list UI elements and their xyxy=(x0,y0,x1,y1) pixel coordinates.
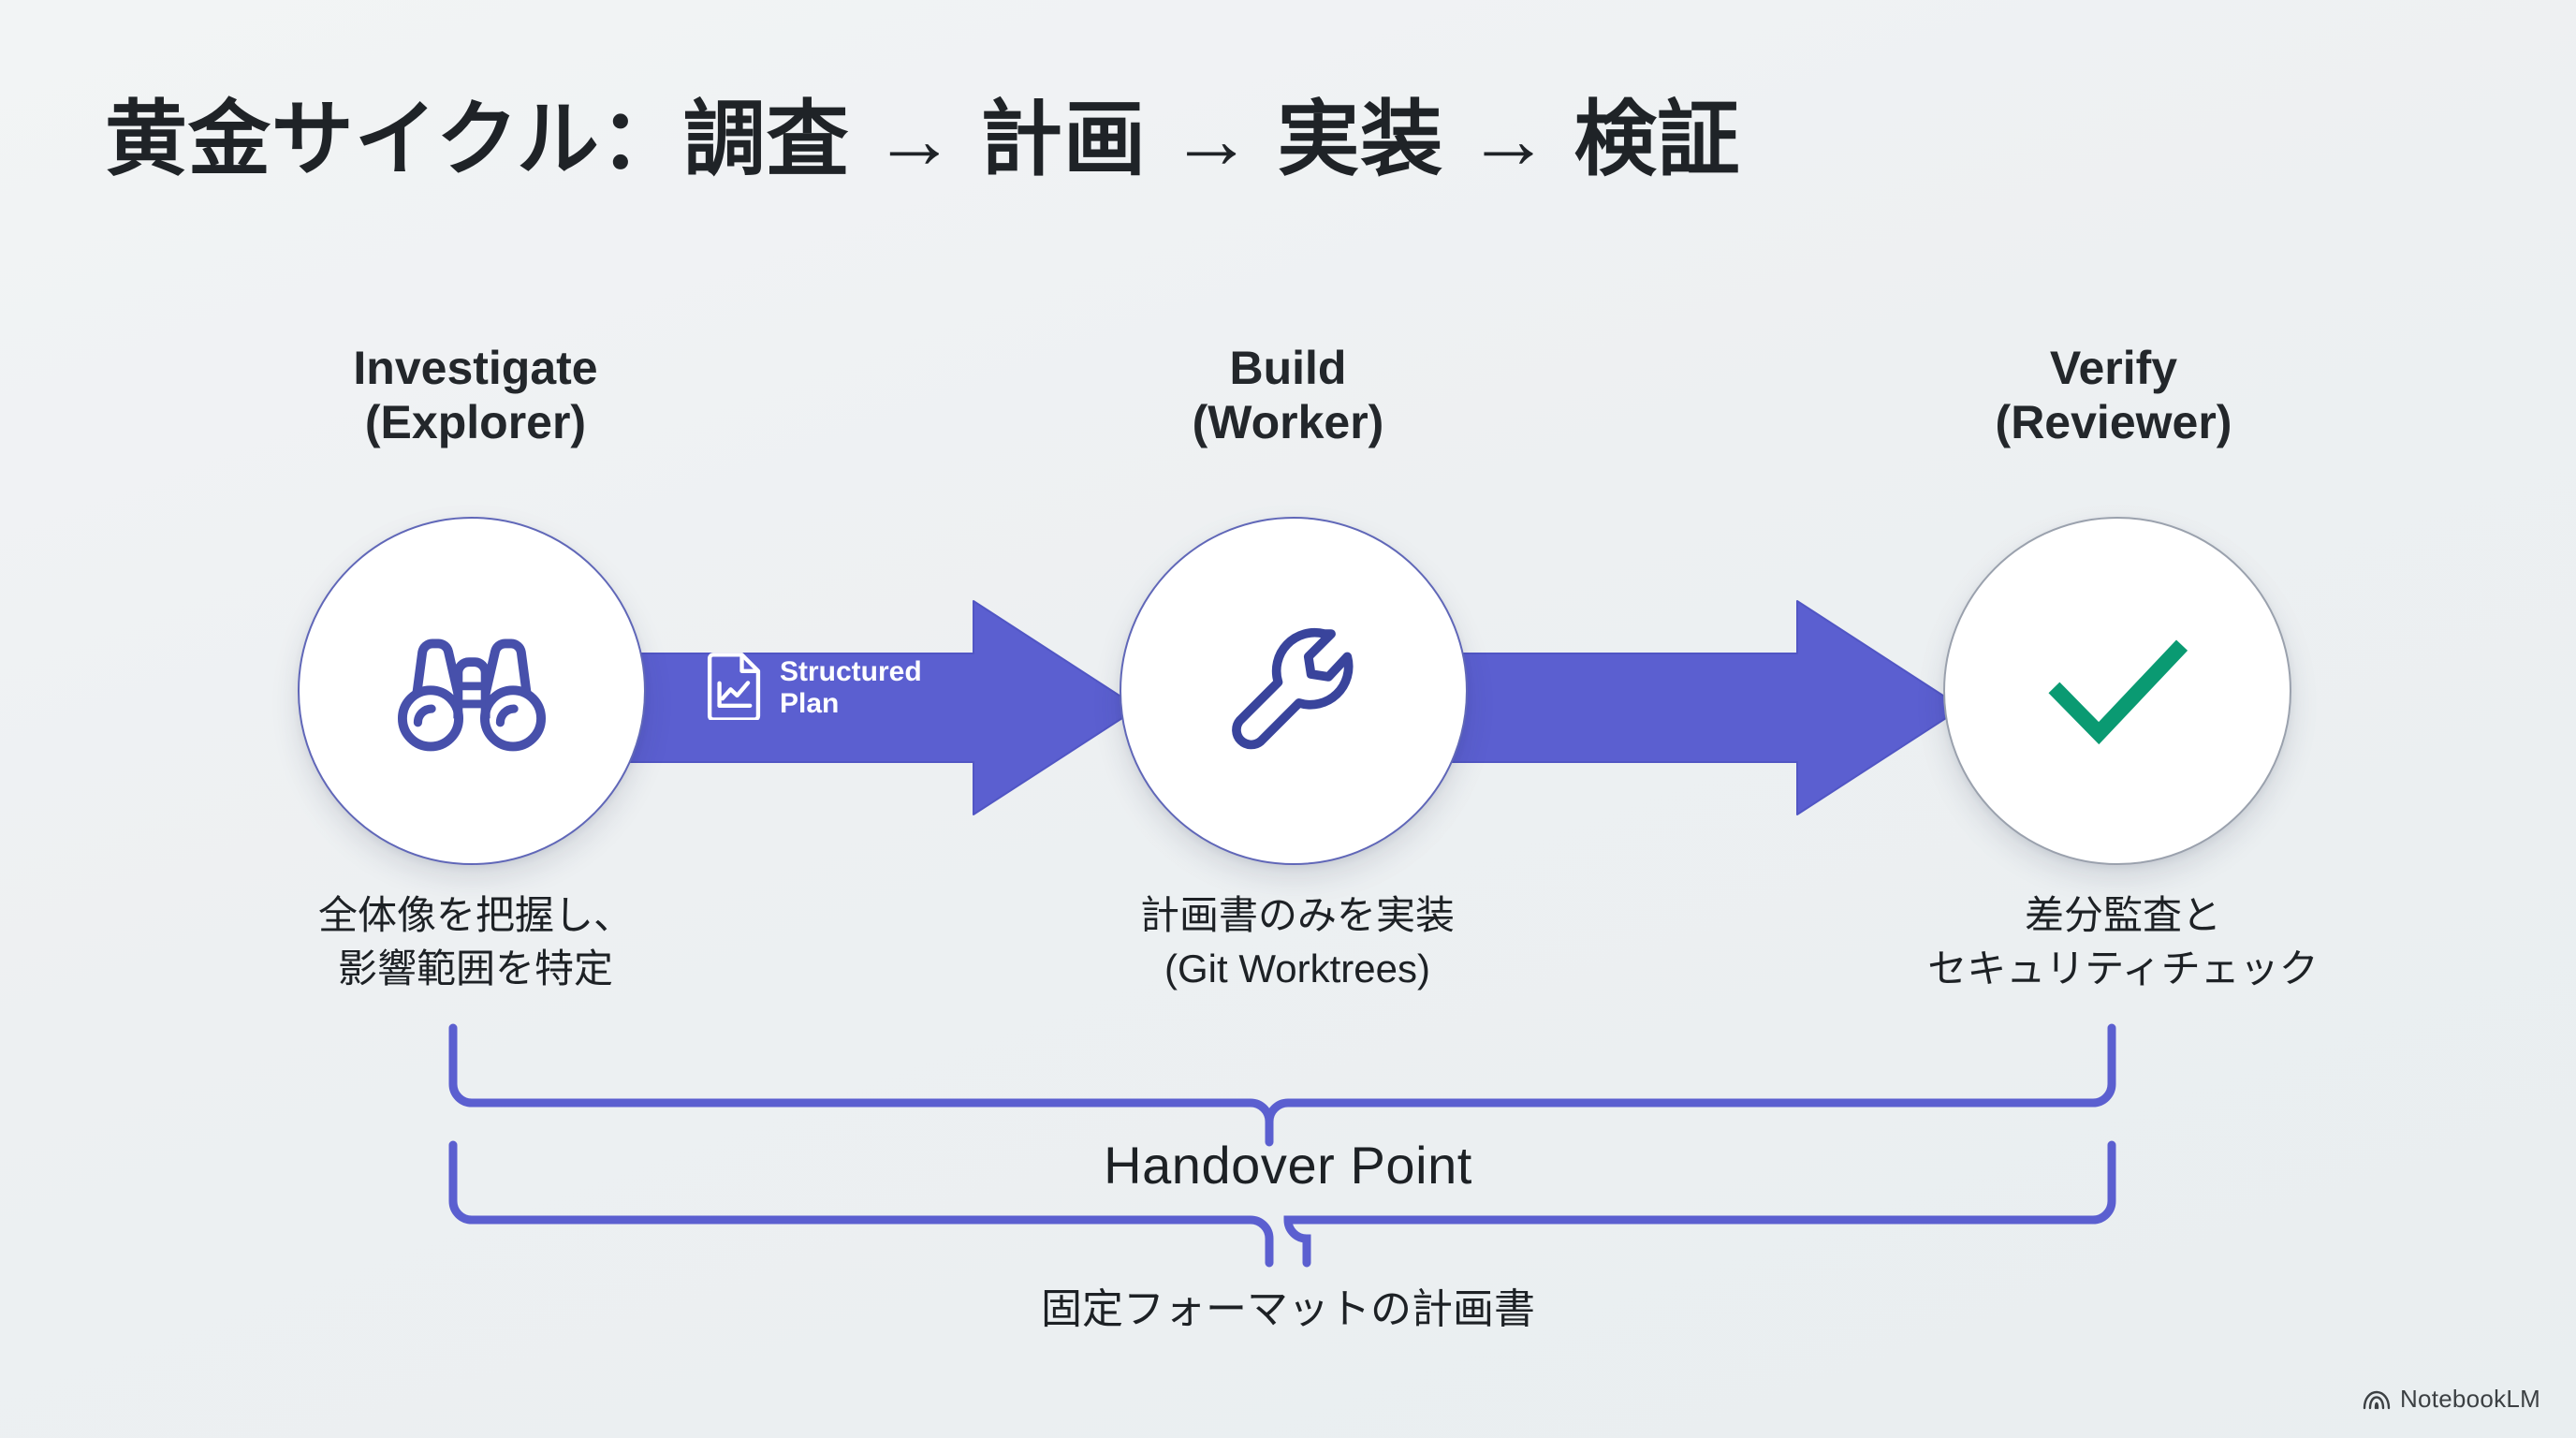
notebooklm-arc-icon xyxy=(2363,1388,2391,1411)
stage-heading: Build (Worker) xyxy=(1045,341,1531,449)
wrench-icon xyxy=(1213,610,1374,771)
stage-caption-investigate: 全体像を把握し、 影響範囲を特定 xyxy=(176,889,775,995)
arrow-build-to-verify xyxy=(1442,595,1966,820)
document-chart-icon xyxy=(707,651,765,725)
slide-canvas: 黄金サイクル：調査 → 計画 → 実装 → 検証 Structured Plan… xyxy=(0,0,2576,1438)
handover-bottom-note: 固定フォーマットの計画書 xyxy=(820,1275,1756,1335)
stage-investigate: Investigate (Explorer) xyxy=(232,341,719,449)
stage-caption-verify: 差分監査と セキュリティチェック xyxy=(1823,889,2422,995)
check-icon xyxy=(2028,602,2206,780)
stage-icon-circle-build xyxy=(1120,517,1468,865)
stage-heading: Verify (Reviewer) xyxy=(1870,341,2357,449)
binoculars-icon xyxy=(389,609,554,773)
brand-name: NotebookLM xyxy=(2400,1385,2540,1414)
arrow-label-structured-plan: Structured Plan xyxy=(707,651,922,725)
stage-icon-circle-investigate xyxy=(298,517,646,865)
handover-brace-bottom xyxy=(440,1137,2125,1269)
stage-caption-build: 計画書のみを実装 (Git Worktrees) xyxy=(998,889,1597,995)
brand-notebooklm: NotebookLM xyxy=(2363,1385,2540,1414)
arrow-label-text: Structured Plan xyxy=(780,656,922,719)
page-title: 黄金サイクル：調査 → 計画 → 実装 → 検証 xyxy=(105,73,1740,192)
stage-verify: Verify (Reviewer) xyxy=(1870,341,2357,449)
stage-heading: Investigate (Explorer) xyxy=(232,341,719,449)
stage-build: Build (Worker) xyxy=(1045,341,1531,449)
stage-icon-circle-verify xyxy=(1943,517,2291,865)
handover-brace-top xyxy=(440,1022,2125,1149)
